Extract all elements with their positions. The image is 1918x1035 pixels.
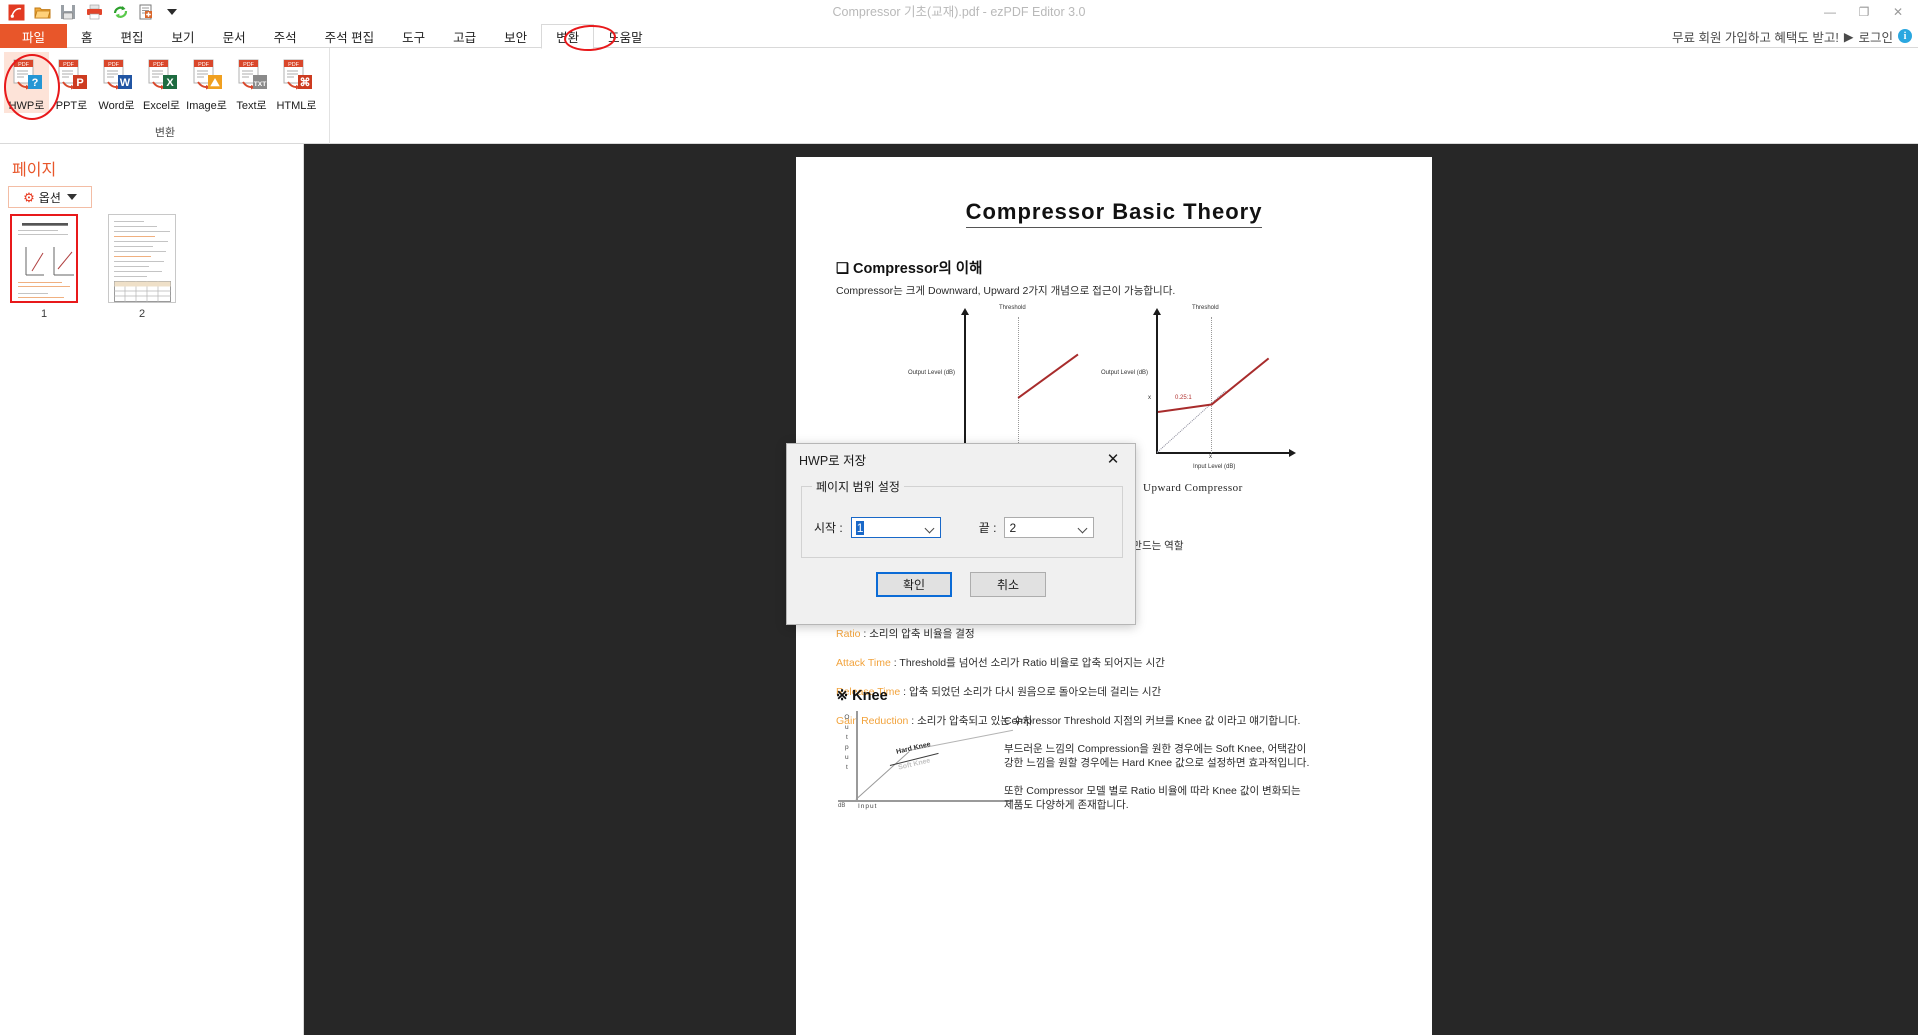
svg-text:PDF: PDF <box>153 62 164 68</box>
doc-section1-heading: ❑ Compressor의 이해 <box>836 257 983 278</box>
graph-y-arrow-icon <box>961 308 969 315</box>
ribbon-button-label: Word로 <box>98 97 134 113</box>
svg-text:PDF: PDF <box>243 62 254 68</box>
window-title: Compressor 기초(교재).pdf - ezPDF Editor 3.0 <box>0 0 1918 24</box>
page-range-groupbox: 페이지 범위 설정 시작 : 1 끝 : 2 <box>801 486 1123 558</box>
graph-caption: Upward Compressor <box>1143 482 1243 494</box>
ribbon: PDF?HWP로PDFPPPT로PDFWWord로PDFXExcel로PDF⛰I… <box>0 48 1918 144</box>
menu-tab-10[interactable]: 변환 <box>541 24 594 49</box>
ribbon-button-word[interactable]: PDFWWord로 <box>94 52 139 113</box>
menu-tab-label: 편집 <box>121 27 144 46</box>
graph-threshold-label: Threshold <box>999 305 1026 311</box>
info-icon[interactable]: i <box>1898 29 1912 43</box>
knee-softknee-seg1 <box>856 751 910 800</box>
doc-menu-term-row: Ratio : 소리의 압축 비율을 결정 <box>836 626 1165 641</box>
menu-tab-0[interactable]: 파일 <box>0 24 67 48</box>
ribbon-button-excel[interactable]: PDFXExcel로 <box>139 52 184 113</box>
menu-tab-3[interactable]: 보기 <box>158 24 209 48</box>
knee-x-axis-label: Input <box>858 803 877 810</box>
thumbnail-image <box>10 214 78 303</box>
ribbon-item-list: PDF?HWP로PDFPPPT로PDFWWord로PDFXExcel로PDF⛰I… <box>4 52 319 113</box>
ribbon-button-label: HWP로 <box>9 97 45 113</box>
end-page-label: 끝 : <box>979 519 997 536</box>
graph-y-axis <box>964 315 966 453</box>
knee-y-axis-label: Output <box>842 713 852 773</box>
doc-menu-desc: : 압축 되었던 소리가 다시 원음으로 돌아오는데 걸리는 시간 <box>900 686 1161 698</box>
graph-x-axis <box>1156 452 1291 454</box>
graph-y-axis-label: Output Level (dB) <box>1101 370 1148 376</box>
chevron-down-icon[interactable] <box>1078 524 1088 534</box>
menu-tab-8[interactable]: 고급 <box>439 24 490 48</box>
convert-to-hwp-icon: PDF? <box>10 58 44 92</box>
page-range-fields: 시작 : 1 끝 : 2 <box>814 517 1094 538</box>
pages-panel-title: 페이지 <box>12 156 56 180</box>
svg-text:⌘: ⌘ <box>299 77 310 89</box>
ribbon-button-hwp[interactable]: PDF?HWP로 <box>4 52 49 113</box>
doc-section1-intro: Compressor는 크게 Downward, Upward 2가지 개념으로… <box>836 283 1175 298</box>
menu-tab-label: 변환 <box>556 27 579 46</box>
menu-tab-7[interactable]: 도구 <box>388 24 439 48</box>
start-page-combo[interactable]: 1 <box>851 517 941 538</box>
svg-text:?: ? <box>31 77 38 89</box>
doc-heading-title: Compressor Basic Theory <box>796 199 1432 225</box>
doc-knee-paragraph-line: 강한 느낌을 원할 경우에는 Hard Knee 값으로 설정하면 효과적입니다… <box>1004 755 1309 770</box>
graph-x-arrow-icon <box>1289 449 1296 457</box>
pages-options-button[interactable]: ⚙ 옵션 <box>8 186 92 208</box>
dialog-title: HWP로 저장 <box>799 450 866 469</box>
dialog-button-row: 확인 취소 <box>787 572 1135 597</box>
menu-tab-label: 파일 <box>22 27 45 46</box>
graph-knee: Output Hard Knee Soft Knee dB Input <box>836 709 1016 814</box>
graph-ratio-curve-high <box>1210 358 1269 406</box>
end-page-value: 2 <box>1009 521 1016 535</box>
graph-ratio-label: 0.25:1 <box>1175 395 1192 401</box>
page-thumbnail-1[interactable]: 1 <box>10 214 80 320</box>
menu-tab-6[interactable]: 주석 편집 <box>311 24 388 48</box>
svg-text:X: X <box>166 77 174 89</box>
ribbon-button-label: PPT로 <box>56 97 88 113</box>
convert-to-word-icon: PDFW <box>100 58 134 92</box>
ribbon-group-label: 변환 <box>0 124 330 140</box>
menu-tab-label: 보기 <box>172 27 195 46</box>
menu-tab-4[interactable]: 문서 <box>209 24 260 48</box>
graph-y-tick-label: x <box>1148 395 1151 401</box>
chevron-down-icon <box>67 194 77 200</box>
menu-tab-2[interactable]: 편집 <box>107 24 158 48</box>
ribbon-button-html[interactable]: PDF⌘HTML로 <box>274 52 319 113</box>
thumbnail-page-number: 1 <box>10 308 78 320</box>
knee-hard-label: Hard Knee <box>896 741 932 756</box>
graph-threshold-line <box>1211 317 1212 453</box>
graph-y-axis <box>1156 315 1158 453</box>
convert-to-image-icon: PDF⛰ <box>190 58 224 92</box>
menu-tab-label: 주석 편집 <box>325 27 374 46</box>
close-button[interactable]: ✕ <box>1882 1 1914 23</box>
svg-text:TXT: TXT <box>253 81 265 88</box>
page-thumbnail-list: 12 <box>10 214 178 320</box>
doc-menu-term: Attack Time <box>836 657 891 669</box>
menu-tab-label: 홈 <box>81 27 93 46</box>
svg-text:PDF: PDF <box>18 62 29 68</box>
menu-tab-label: 고급 <box>453 27 476 46</box>
promo-arrow-icon[interactable]: ▶ <box>1844 29 1854 44</box>
menu-tab-label: 문서 <box>223 27 246 46</box>
doc-knee-paragraph-line: 또한 Compressor 모델 별로 Ratio 비율에 따라 Knee 값이… <box>1004 783 1301 798</box>
ribbon-button-label: HTML로 <box>276 97 316 113</box>
convert-to-excel-icon: PDFX <box>145 58 179 92</box>
convert-to-ppt-icon: PDFP <box>55 58 89 92</box>
graph-y-axis-label: Output Level (dB) <box>908 370 955 376</box>
ribbon-button-label: Text로 <box>236 97 266 113</box>
ribbon-button-image[interactable]: PDF⛰Image로 <box>184 52 229 113</box>
doc-menu-term: Ratio <box>836 628 861 640</box>
svg-text:PDF: PDF <box>63 62 74 68</box>
menu-tab-9[interactable]: 보안 <box>490 24 541 48</box>
page-range-legend: 페이지 범위 설정 <box>812 478 904 495</box>
svg-text:W: W <box>119 77 130 89</box>
gear-icon: ⚙ <box>23 191 35 204</box>
login-link[interactable]: 로그인 <box>1858 27 1893 46</box>
convert-to-text-icon: PDFTXT <box>235 58 269 92</box>
minimize-button[interactable]: — <box>1814 1 1846 23</box>
menu-tab-label: 도구 <box>402 27 425 46</box>
graph-threshold-line <box>1018 317 1019 453</box>
thumbnail-page-number: 2 <box>108 308 176 320</box>
svg-text:PDF: PDF <box>198 62 209 68</box>
svg-text:PDF: PDF <box>288 62 299 68</box>
graph-threshold-label: Threshold <box>1192 305 1219 311</box>
thumbnail-image <box>108 214 176 303</box>
graph-ratio-curve <box>1018 354 1079 399</box>
doc-knee-paragraph-line: 부드러운 느낌의 Compression을 원한 경우에는 Soft Knee,… <box>1004 741 1306 756</box>
start-page-label: 시작 : <box>814 519 843 536</box>
menu-bar: 파일홈편집보기문서주석주석 편집도구고급보안변환도움말 무료 회원 가입하고 혜… <box>0 24 1918 48</box>
svg-text:⛰: ⛰ <box>209 77 220 89</box>
start-page-value: 1 <box>856 521 865 535</box>
title-bar: Compressor 기초(교재).pdf - ezPDF Editor 3.0… <box>0 0 1918 24</box>
ok-button[interactable]: 확인 <box>876 572 952 597</box>
doc-menu-desc: : Threshold를 넘어선 소리가 Ratio 비율로 압축 되어지는 시… <box>891 657 1165 669</box>
menu-tab-label: 주석 <box>274 27 297 46</box>
restore-button[interactable]: ❐ <box>1848 1 1880 23</box>
menu-tab-5[interactable]: 주석 <box>260 24 311 48</box>
ribbon-button-ppt[interactable]: PDFPPPT로 <box>49 52 94 113</box>
doc-menu-term-row: Attack Time : Threshold를 넘어선 소리가 Ratio 비… <box>836 655 1165 670</box>
ribbon-button-label: Excel로 <box>143 97 180 113</box>
menu-tab-1[interactable]: 홈 <box>67 24 107 48</box>
graph-x-axis-label: Input Level (dB) <box>1193 464 1235 470</box>
ribbon-button-label: Image로 <box>186 97 227 113</box>
end-page-combo[interactable]: 2 <box>1004 517 1094 538</box>
doc-knee-paragraph-line: 제품도 다양하게 존재합니다. <box>1004 797 1129 812</box>
doc-menu-desc: : 소리의 압축 비율을 결정 <box>861 628 975 640</box>
pages-options-label: 옵션 <box>39 189 61 206</box>
dialog-title-bar: HWP로 저장 ✕ <box>787 444 1135 474</box>
svg-text:P: P <box>76 77 83 89</box>
promo-text[interactable]: 무료 회원 가입하고 혜택도 받고! <box>1672 27 1839 46</box>
ribbon-button-text[interactable]: PDFTXTText로 <box>229 52 274 113</box>
knee-y-axis <box>856 711 858 801</box>
menu-tab-11[interactable]: 도움말 <box>594 24 657 48</box>
promo-login-area: 무료 회원 가입하고 혜택도 받고! ▶ 로그인 i <box>1672 24 1912 48</box>
doc-knee-paragraph-line: Compressor Threshold 지점의 커브를 Knee 값 이라고 … <box>1004 713 1300 728</box>
page-thumbnail-2[interactable]: 2 <box>108 214 178 320</box>
knee-x-axis <box>838 800 1013 802</box>
menu-tab-list: 파일홈편집보기문서주석주석 편집도구고급보안변환도움말 <box>0 24 657 48</box>
svg-text:PDF: PDF <box>108 62 119 68</box>
save-as-hwp-dialog: HWP로 저장 ✕ 페이지 범위 설정 시작 : 1 끝 : 2 확인 취소 <box>786 443 1136 625</box>
graph-y-arrow-icon <box>1153 308 1161 315</box>
pages-panel: 페이지 ⚙ 옵션 12 <box>0 144 304 1035</box>
doc-section3-heading: ※ Knee <box>836 688 888 704</box>
menu-tab-label: 도움말 <box>608 27 643 46</box>
chevron-down-icon[interactable] <box>924 524 934 534</box>
convert-to-html-icon: PDF⌘ <box>280 58 314 92</box>
ribbon-group-convert: PDF?HWP로PDFPPPT로PDFWWord로PDFXExcel로PDF⛰I… <box>0 48 330 144</box>
cancel-button[interactable]: 취소 <box>970 572 1046 597</box>
menu-tab-label: 보안 <box>504 27 527 46</box>
close-icon[interactable]: ✕ <box>1091 444 1135 474</box>
window-controls: — ❐ ✕ <box>1814 0 1914 24</box>
knee-unit-label: dB <box>838 803 845 809</box>
graph-x-tick-label: x <box>1209 454 1212 460</box>
